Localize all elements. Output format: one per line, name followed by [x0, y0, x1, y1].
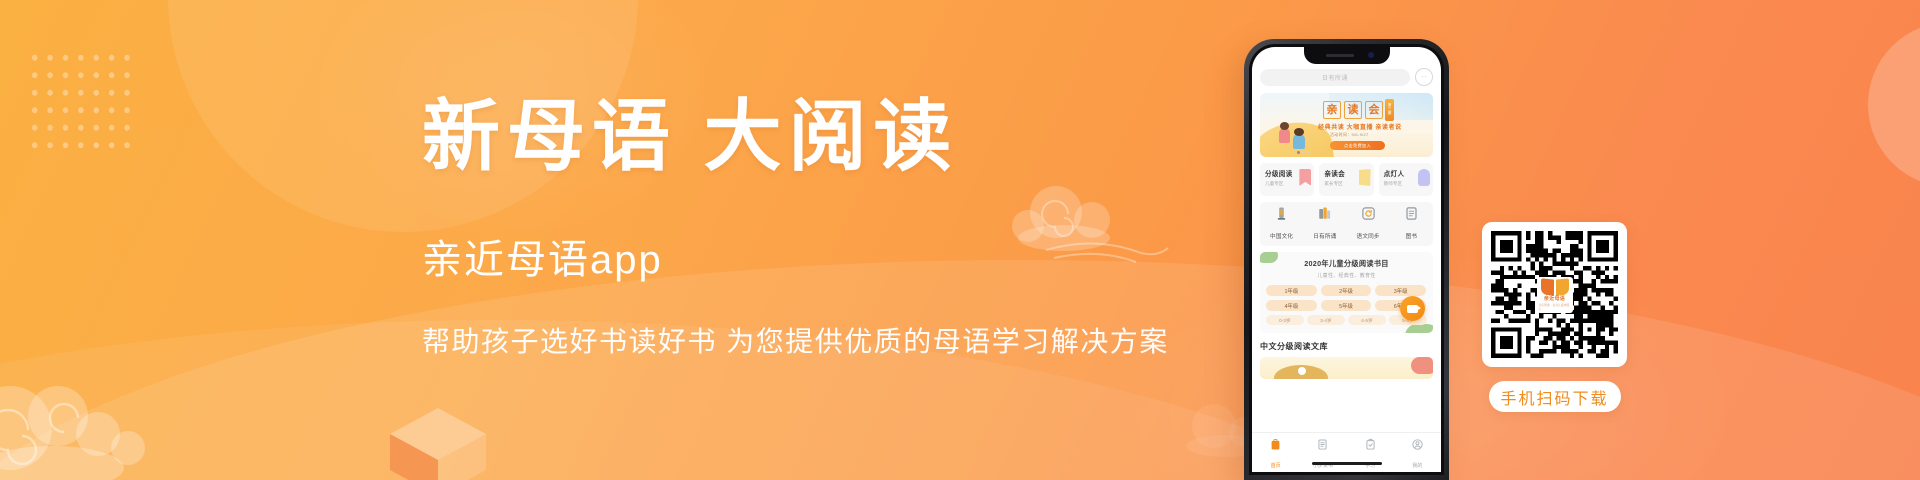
message-icon[interactable]: ··· — [1415, 68, 1433, 86]
hero-tagline: 帮助孩子选好书读好书 为您提供优质的母语学习解决方案 — [422, 320, 1242, 360]
phone-bezel: 日有所诵 ··· 亲 读 会 第三期 经典 — [1249, 44, 1444, 475]
promo-banner: 新母语 大阅读 亲近母语app 帮助孩子选好书读好书 为您提供优质的母语学习解决… — [0, 0, 1920, 480]
phone-mockup: 日有所诵 ··· 亲 读 会 第三期 经典 — [1244, 39, 1449, 480]
phone-notch — [1304, 47, 1390, 64]
promo-date: 活动时间：9/6-9/27 — [1330, 132, 1369, 138]
promo-child-2 — [1293, 134, 1305, 149]
promo-card[interactable]: 亲 读 会 第三期 经典共读 大咖直播 亲读者说 活动时间：9/6-9/27 点… — [1260, 93, 1433, 157]
person-icon — [1418, 169, 1430, 186]
tab-profile[interactable]: 我的 — [1394, 438, 1441, 472]
app-search-row: 日有所诵 ··· — [1260, 68, 1433, 86]
logo-slogan: 日有所诵 · 点亮儿童中国心 — [1539, 303, 1571, 311]
video-play-icon[interactable] — [1400, 296, 1425, 321]
grade-chip[interactable]: 5年级 — [1321, 300, 1372, 311]
library-card[interactable] — [1260, 357, 1433, 379]
quick-nav-label: 图书 — [1406, 234, 1418, 240]
library-section-title: 中文分级阅读文库 — [1260, 341, 1433, 352]
tab-label: 我的 — [1412, 463, 1422, 469]
quick-nav-row: 中国文化 日有所诵 — [1260, 202, 1433, 246]
booklist-card: 2020年儿童分级阅读书目 儿童性、经典性、教育性 1年级 2年级 3年级 4年… — [1260, 252, 1433, 333]
page-title: 新母语 大阅读 — [422, 96, 1242, 179]
feature-card-lamplighter[interactable]: 点灯人 教师专区 — [1379, 163, 1433, 196]
quick-nav-label: 日有所诵 — [1313, 234, 1336, 240]
promo-child-1 — [1279, 128, 1290, 143]
books-icon — [1317, 206, 1332, 221]
page-icon — [1359, 169, 1371, 186]
home-icon — [1269, 438, 1282, 451]
quick-nav-textbook-sync[interactable]: 语文同步 — [1347, 206, 1390, 243]
age-chip[interactable]: 0-3岁 — [1266, 315, 1304, 325]
tab-reading[interactable]: 小步读书 — [1299, 438, 1346, 472]
app-content: 日有所诵 ··· 亲 读 会 第三期 经典 — [1252, 47, 1441, 379]
library-blob-decor — [1411, 357, 1433, 374]
quick-nav-chinese-culture[interactable]: 中国文化 — [1260, 206, 1303, 243]
bottom-tab-bar: 首页 小步读书 — [1252, 432, 1441, 472]
book-icon — [1404, 206, 1419, 221]
search-input[interactable]: 日有所诵 — [1260, 69, 1410, 86]
promo-title-char-2: 读 — [1344, 101, 1362, 119]
promo-join-button[interactable]: 点击免费加入 — [1330, 141, 1385, 150]
quick-nav-label: 语文同步 — [1357, 234, 1380, 240]
carousel-dots[interactable] — [1297, 151, 1310, 154]
decor-circle-top-right — [1868, 22, 1920, 187]
promo-subtitle: 经典共读 大咖直播 亲读者说 — [1318, 122, 1402, 131]
grade-chip[interactable]: 1年级 — [1266, 285, 1317, 296]
feature-card-graded-reading[interactable]: 分级阅读 儿童专区 — [1260, 163, 1314, 196]
booklist-subtitle: 儿童性、经典性、教育性 — [1266, 272, 1427, 279]
camera-icon — [1368, 52, 1374, 58]
booklist-title: 2020年儿童分级阅读书目 — [1266, 259, 1427, 269]
tab-study[interactable]: 学习 — [1347, 438, 1394, 472]
open-book-icon — [1541, 279, 1569, 295]
qr-center-logo: 亲近母语 日有所诵 · 点亮儿童中国心 — [1537, 277, 1573, 313]
phone-screen: 日有所诵 ··· 亲 读 会 第三期 经典 — [1252, 47, 1441, 472]
check-icon — [1364, 438, 1377, 451]
age-chip[interactable]: 4-5岁 — [1348, 315, 1386, 325]
speaker-icon — [1326, 54, 1354, 57]
promo-title-char-3: 会 — [1365, 101, 1383, 119]
promo-ribbon: 第三期 — [1385, 99, 1394, 121]
leaf-decor-icon — [1405, 324, 1433, 333]
user-icon — [1411, 438, 1424, 451]
quick-nav-books[interactable]: 图书 — [1390, 206, 1433, 243]
hero-subtitle: 亲近母语app — [422, 227, 1242, 285]
promo-title-char-1: 亲 — [1323, 101, 1341, 119]
isometric-cube-icon — [390, 408, 486, 480]
feature-card-reading-club[interactable]: 亲读会 家长专区 — [1319, 163, 1373, 196]
qr-code-card[interactable]: 亲近母语 日有所诵 · 点亮儿童中国心 — [1482, 222, 1627, 367]
logo-name: 亲近母语 — [1544, 295, 1565, 302]
scroll-icon — [1274, 206, 1289, 221]
promo-title: 亲 读 会 — [1323, 101, 1383, 119]
hero-copy: 新母语 大阅读 亲近母语app 帮助孩子选好书读好书 为您提供优质的母语学习解决… — [422, 96, 1242, 360]
library-dot-decor — [1298, 367, 1306, 375]
quick-nav-label: 中国文化 — [1270, 234, 1293, 240]
home-indicator — [1312, 462, 1382, 465]
chinese-cloud-icon-bottom-left — [0, 356, 212, 480]
qr-download-block: 亲近母语 日有所诵 · 点亮儿童中国心 手机扫码下载 — [1482, 222, 1627, 412]
quick-nav-daily-recitation[interactable]: 日有所诵 — [1303, 206, 1346, 243]
note-icon — [1316, 438, 1329, 451]
grade-chip[interactable]: 2年级 — [1321, 285, 1372, 296]
age-chip[interactable]: 3-4岁 — [1307, 315, 1345, 325]
feature-card-row: 分级阅读 儿童专区 亲读会 家长专区 点灯人 教师专区 — [1260, 163, 1433, 196]
tab-home[interactable]: 首页 — [1252, 438, 1299, 472]
scan-download-button[interactable]: 手机扫码下载 — [1489, 381, 1621, 412]
grade-chip[interactable]: 4年级 — [1266, 300, 1317, 311]
grade-chip[interactable]: 3年级 — [1375, 285, 1426, 296]
dot-grid-pattern — [27, 49, 133, 160]
sync-icon — [1361, 206, 1376, 221]
tab-label: 首页 — [1271, 463, 1281, 469]
